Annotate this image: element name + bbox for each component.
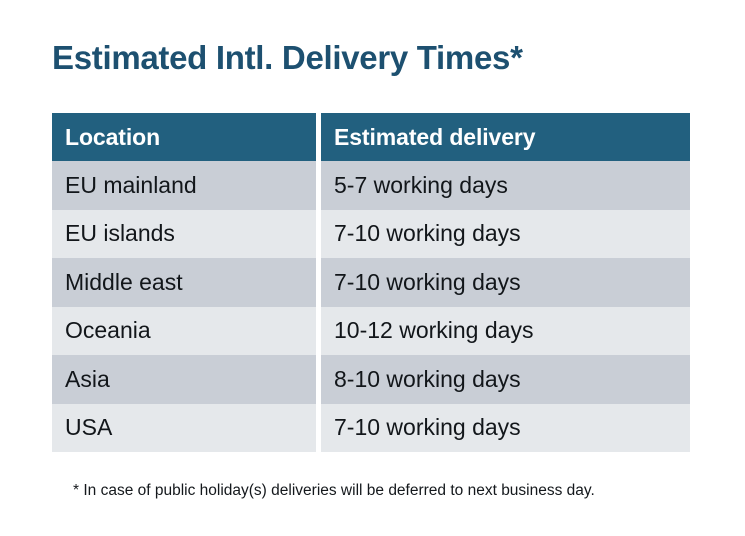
table-row: Asia 8-10 working days <box>52 355 690 404</box>
cell-delivery: 7-10 working days <box>321 404 690 453</box>
cell-location: USA <box>52 404 316 453</box>
cell-location: EU islands <box>52 210 316 259</box>
table-row: USA 7-10 working days <box>52 404 690 453</box>
cell-delivery: 7-10 working days <box>321 258 690 307</box>
cell-location: Asia <box>52 355 316 404</box>
column-header-location: Location <box>52 113 316 161</box>
page-title: Estimated Intl. Delivery Times* <box>52 36 523 80</box>
cell-delivery: 5-7 working days <box>321 161 690 210</box>
table-row: Oceania 10-12 working days <box>52 307 690 356</box>
column-header-estimated-delivery: Estimated delivery <box>321 113 690 161</box>
cell-delivery: 7-10 working days <box>321 210 690 259</box>
delivery-times-page: Estimated Intl. Delivery Times* Location… <box>0 0 745 536</box>
table-header-row: Location Estimated delivery <box>52 113 690 161</box>
cell-location: Middle east <box>52 258 316 307</box>
cell-location: EU mainland <box>52 161 316 210</box>
cell-delivery: 10-12 working days <box>321 307 690 356</box>
cell-delivery: 8-10 working days <box>321 355 690 404</box>
delivery-times-table: Location Estimated delivery EU mainland … <box>52 113 690 452</box>
table-row: Middle east 7-10 working days <box>52 258 690 307</box>
cell-location: Oceania <box>52 307 316 356</box>
table-row: EU mainland 5-7 working days <box>52 161 690 210</box>
footnote-text: * In case of public holiday(s) deliverie… <box>73 481 595 501</box>
table-row: EU islands 7-10 working days <box>52 210 690 259</box>
